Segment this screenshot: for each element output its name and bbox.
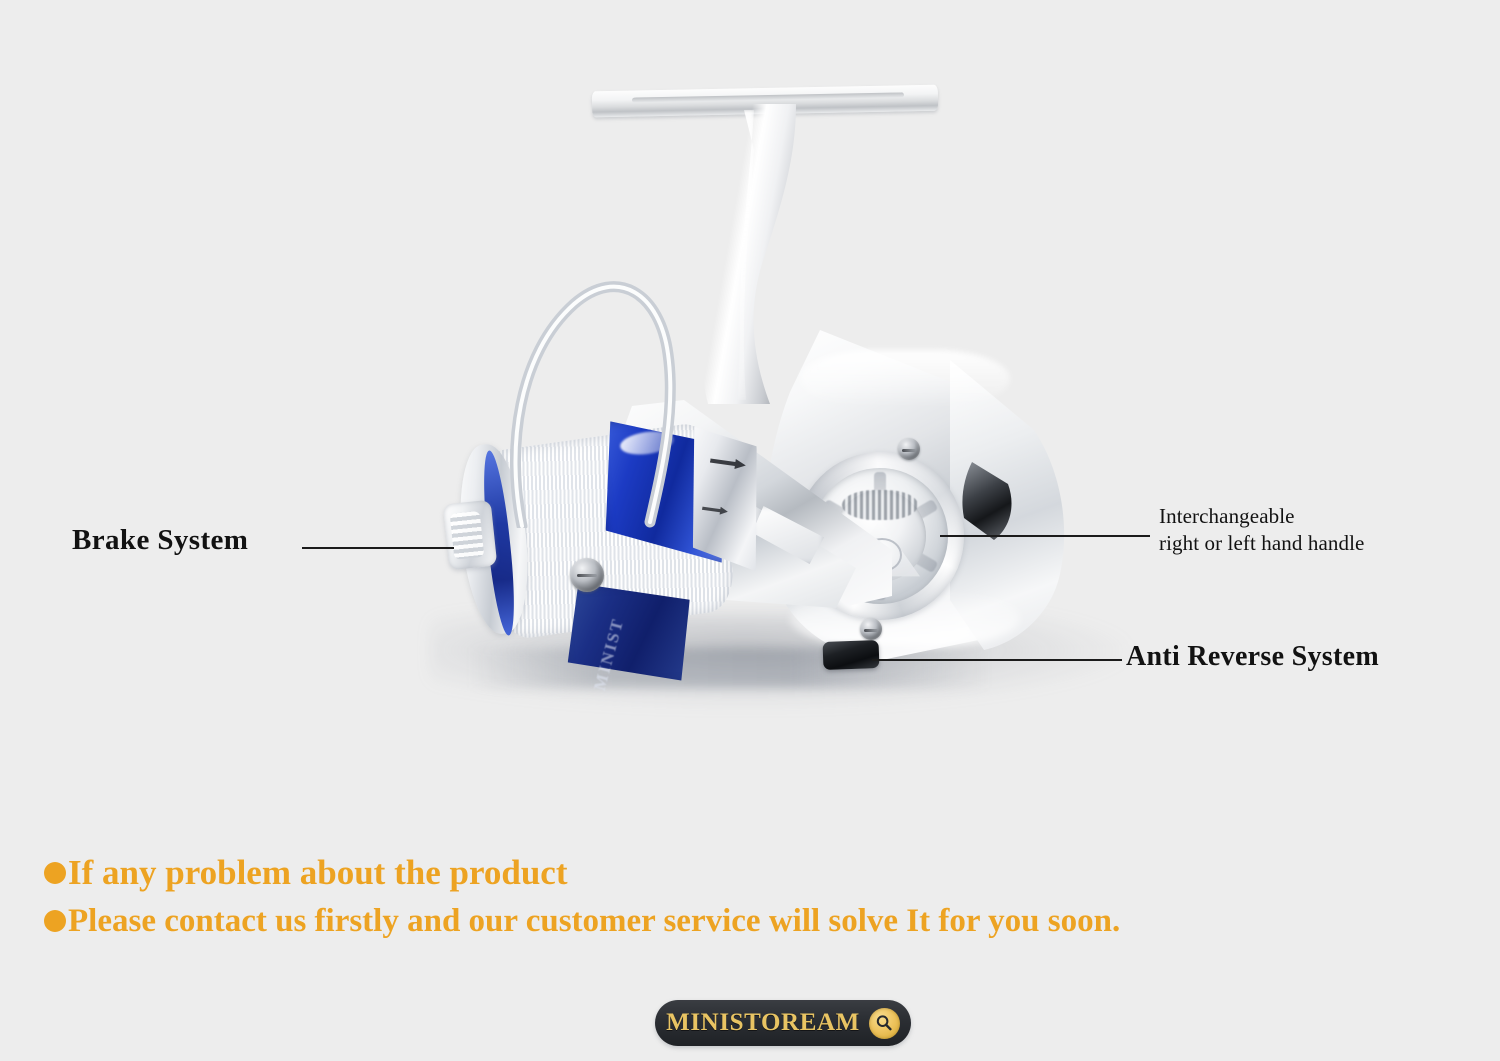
leader-line-anti-reverse: [872, 659, 1122, 661]
body-screw-top: [898, 438, 920, 460]
support-note-row-1: If any problem about the product: [44, 852, 1464, 894]
support-note-line-2: Please contact us firstly and our custom…: [68, 900, 1120, 942]
support-note-line-1: If any problem about the product: [68, 852, 567, 894]
infographic-page: MINIST Brake System Interchangeable righ…: [0, 0, 1500, 1061]
brand-badge[interactable]: MINISTOREAM: [655, 1000, 911, 1046]
anti-reverse-lever: [823, 640, 880, 670]
bullet-icon: [44, 862, 66, 884]
callout-label-interchangeable-line2: right or left hand handle: [1159, 530, 1364, 557]
callout-label-interchangeable-line1: Interchangeable: [1159, 503, 1364, 530]
drag-brake-knob: [443, 500, 498, 571]
support-notes: If any problem about the product Please …: [44, 852, 1464, 948]
leader-line-handle: [940, 535, 1150, 537]
callout-label-anti-reverse-system: Anti Reverse System: [1126, 641, 1379, 673]
callout-label-interchangeable-handle: Interchangeable right or left hand handl…: [1159, 503, 1364, 557]
rotor-pivot-screw: [570, 558, 604, 592]
leader-line-brake: [302, 547, 454, 549]
brand-name: MINISTOREAM: [666, 1009, 860, 1037]
search-icon: [869, 1008, 900, 1039]
support-note-row-2: Please contact us firstly and our custom…: [44, 900, 1464, 942]
bail-arm: [500, 258, 700, 528]
callout-label-brake-system: Brake System: [72, 524, 248, 557]
bullet-icon: [44, 910, 66, 932]
